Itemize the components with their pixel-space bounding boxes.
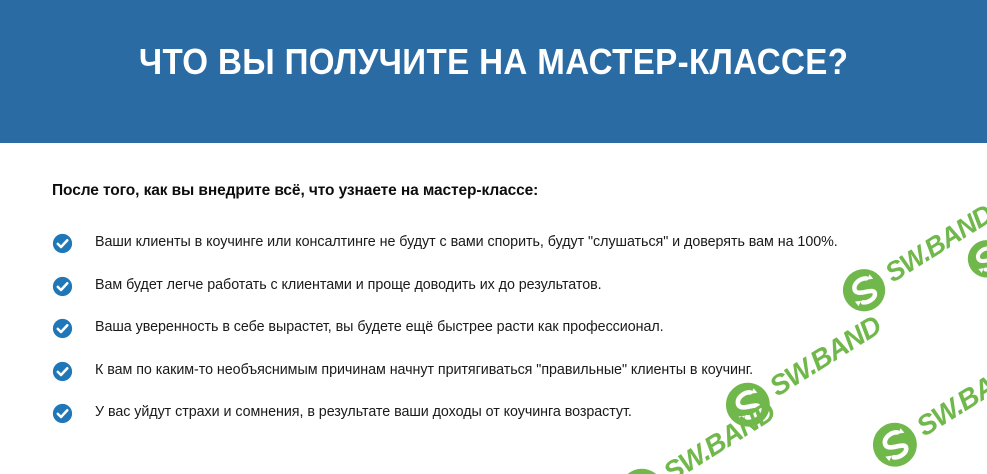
check-circle-icon — [52, 403, 73, 424]
list-item-label: Ваши клиенты в коучинге или консалтинге … — [95, 232, 838, 253]
list-item: Вам будет легче работать с клиентами и п… — [52, 275, 952, 318]
list-item-label: У вас уйдут страхи и сомнения, в результ… — [95, 402, 632, 423]
list-item: К вам по каким-то необъяснимым причинам … — [52, 360, 952, 403]
list-item: Ваша уверенность в себе вырастет, вы буд… — [52, 317, 952, 360]
list-item: У вас уйдут страхи и сомнения, в результ… — [52, 402, 952, 445]
main-content: После того, как вы внедрите всё, что узн… — [0, 143, 987, 474]
list-item-label: Вам будет легче работать с клиентами и п… — [95, 275, 602, 296]
header-banner: ЧТО ВЫ ПОЛУЧИТЕ НА МАСТЕР-КЛАССЕ? — [0, 0, 987, 143]
check-circle-icon — [52, 318, 73, 339]
list-item: Ваши клиенты в коучинге или консалтинге … — [52, 232, 952, 275]
check-circle-icon — [52, 276, 73, 297]
lead-paragraph: После того, как вы внедрите всё, что узн… — [52, 182, 538, 200]
page-title: ЧТО ВЫ ПОЛУЧИТЕ НА МАСТЕР-КЛАССЕ? — [139, 44, 848, 80]
check-circle-icon — [52, 361, 73, 382]
benefits-list: Ваши клиенты в коучинге или консалтинге … — [52, 232, 952, 445]
list-item-label: Ваша уверенность в себе вырастет, вы буд… — [95, 317, 664, 338]
check-circle-icon — [52, 233, 73, 254]
list-item-label: К вам по каким-то необъяснимым причинам … — [95, 360, 753, 381]
page-root: ЧТО ВЫ ПОЛУЧИТЕ НА МАСТЕР-КЛАССЕ? После … — [0, 0, 987, 474]
